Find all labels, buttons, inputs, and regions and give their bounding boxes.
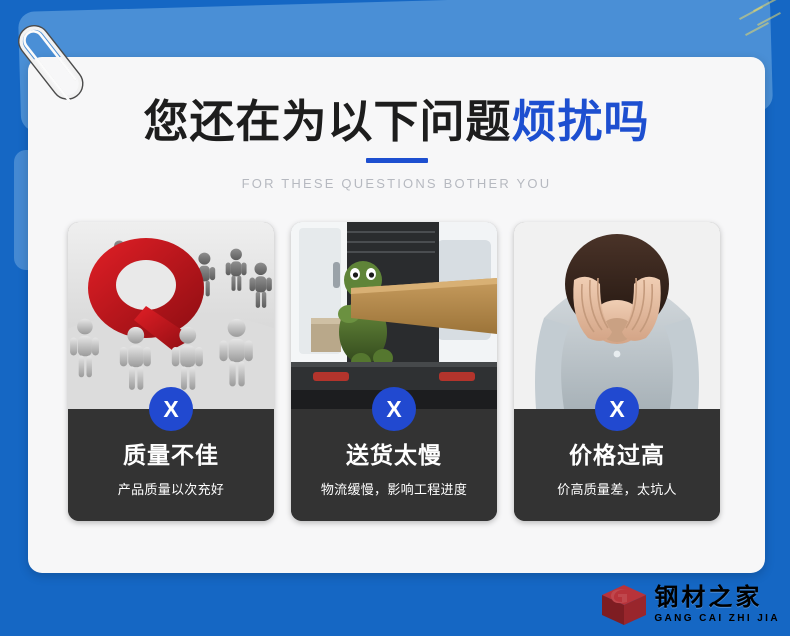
card-title: 质量不佳	[68, 442, 274, 470]
page-title: 您还在为以下问题烦扰吗	[28, 96, 765, 148]
card-image-quality	[68, 222, 274, 409]
brand-logo-text: 钢材之家 GANG CAI ZHI JIA	[654, 586, 780, 624]
brand-name-en: GANG CAI ZHI JIA	[654, 614, 780, 624]
page-title-plain: 您还在为以下问题	[143, 96, 511, 147]
card-description: 价高质量差，太坑人	[514, 479, 720, 498]
card-image-delivery	[291, 222, 497, 409]
card-description: 产品质量以次充好	[68, 479, 274, 498]
issue-card[interactable]: X 送货太慢 物流缓慢，影响工程进度	[291, 222, 497, 521]
header-block: 您还在为以下问题烦扰吗 FOR THESE QUESTIONS BOTHER Y…	[28, 96, 765, 191]
card-title: 送货太慢	[291, 442, 497, 470]
title-underline	[366, 158, 428, 163]
cube-logo-icon	[600, 583, 648, 627]
brand-logo[interactable]: 钢材之家 GANG CAI ZHI JIA	[600, 580, 780, 630]
issue-card[interactable]: X 价格过高 价高质量差，太坑人	[514, 222, 720, 521]
card-image-price	[514, 222, 720, 409]
brand-name-cn: 钢材之家	[654, 586, 780, 610]
card-title: 价格过高	[514, 442, 720, 470]
card-x-badge: X	[372, 387, 416, 431]
issue-card[interactable]: X 质量不佳 产品质量以次充好	[68, 222, 274, 521]
card-description: 物流缓慢，影响工程进度	[291, 479, 497, 498]
page-subtitle: FOR THESE QUESTIONS BOTHER YOU	[28, 176, 765, 191]
card-x-badge: X	[149, 387, 193, 431]
issue-card-list: X 质量不佳 产品质量以次充好	[68, 222, 720, 521]
card-x-badge: X	[595, 387, 639, 431]
page-title-accent: 烦扰吗	[512, 96, 650, 147]
decorative-dashes	[728, 0, 788, 48]
